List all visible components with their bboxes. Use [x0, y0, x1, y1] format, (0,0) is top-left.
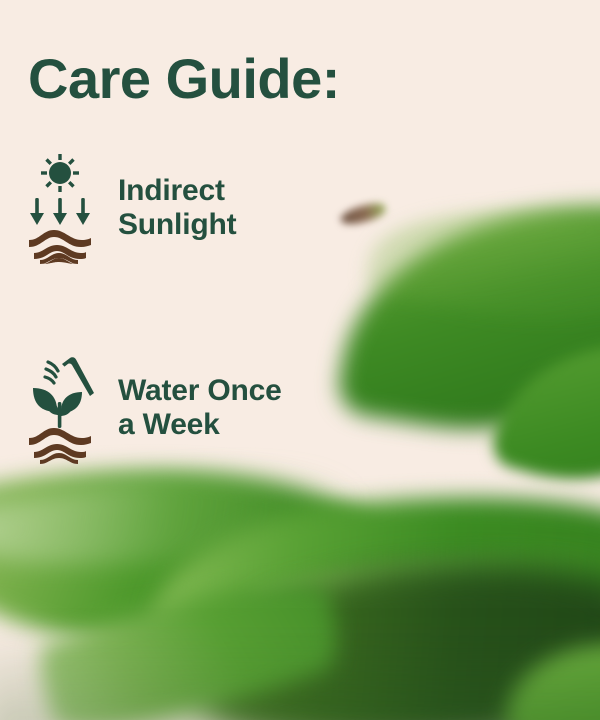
care-item-sunlight: Indirect Sunlight: [26, 152, 236, 264]
leaf-vein-highlight: [363, 172, 600, 347]
care-item-water: Water Once a Week: [26, 352, 282, 464]
page-title: Care Guide:: [28, 50, 340, 109]
leaf-stem-tip: [339, 201, 388, 228]
leaf-lower-right: [501, 620, 600, 720]
watering-can-sprout-soil-icon: [26, 352, 94, 464]
leaf-right-edge: [488, 307, 600, 513]
leaf-dark-lower-right: [189, 546, 600, 720]
leaf-upper-right: [334, 164, 600, 463]
leaf-dark-edge-highlight: [249, 538, 600, 623]
care-guide-card: Care Guide:: [0, 0, 600, 720]
leaf-center-band: [143, 471, 600, 689]
sun-arrows-soil-icon: [26, 152, 94, 264]
care-item-label: Indirect Sunlight: [118, 174, 236, 242]
leaf-blade-bottom-left: [29, 548, 352, 720]
care-item-label: Water Once a Week: [118, 374, 282, 442]
photo-bottom-haze: [0, 630, 600, 720]
